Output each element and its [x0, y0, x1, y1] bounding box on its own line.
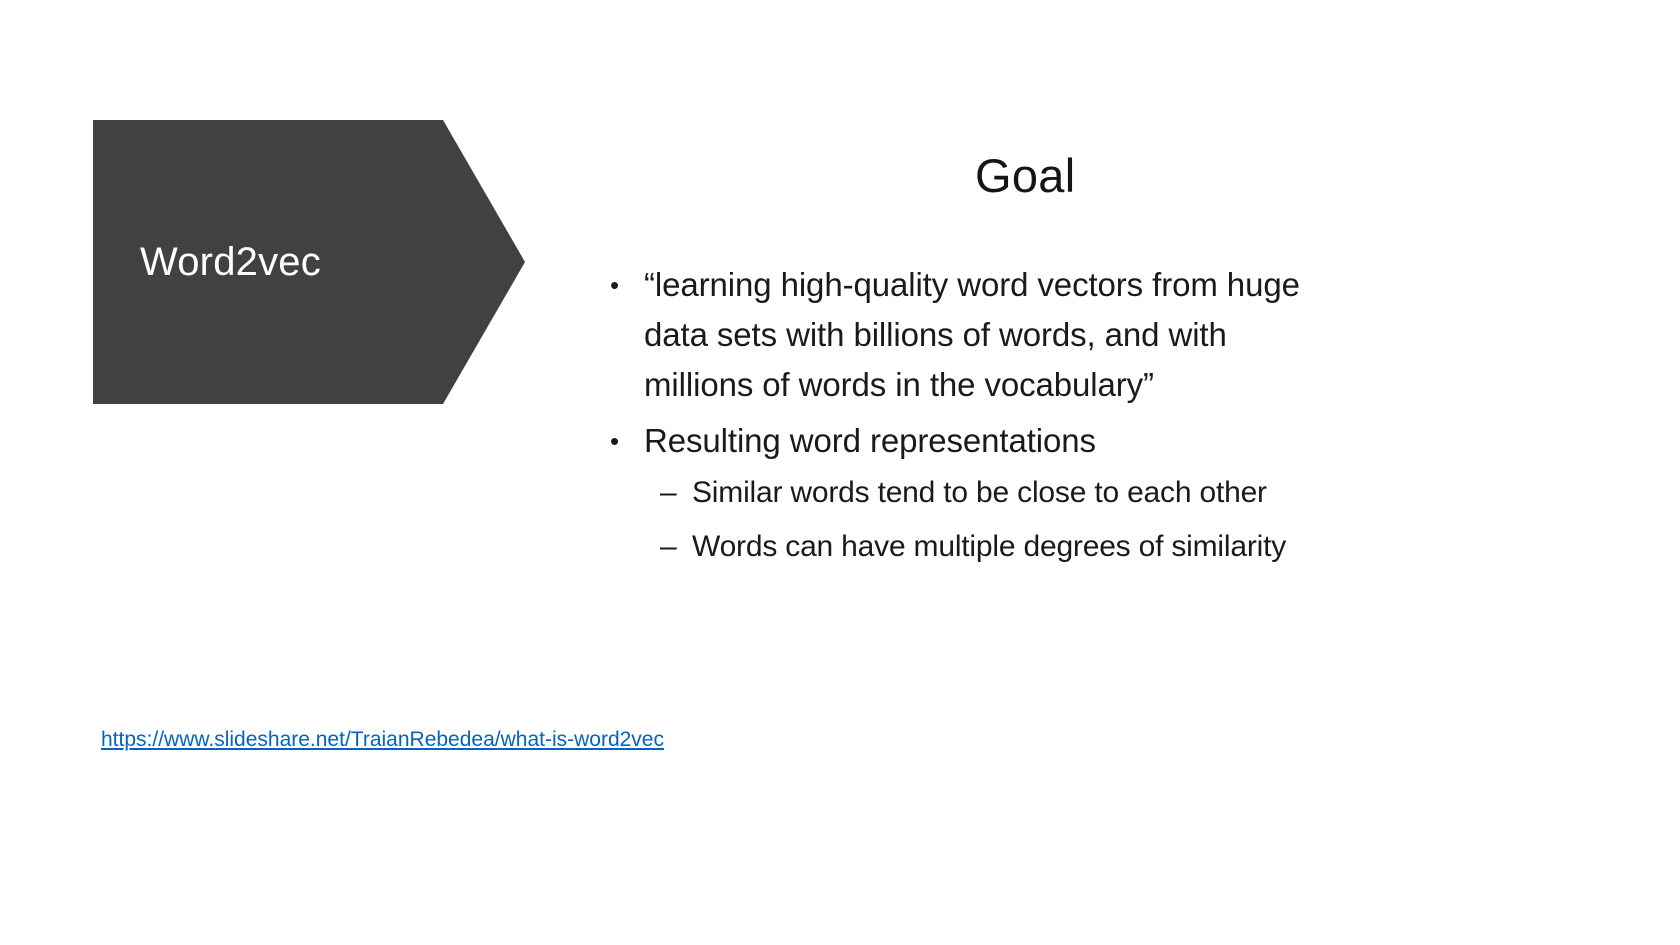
sub-bullet-text: Words can have multiple degrees of simil… [692, 530, 1286, 563]
bullet-line: millions of words in the vocabulary” [644, 360, 1470, 410]
bullet-list: • “learning high-quality word vectors fr… [590, 260, 1470, 580]
bullet-dot-icon: • [610, 260, 619, 310]
sub-bullet-list: – Similar words tend to be close to each… [644, 466, 1470, 574]
bullet-line: Resulting word representations [644, 416, 1470, 466]
dash-bullet-icon: – [660, 520, 677, 574]
dash-bullet-icon: – [660, 466, 677, 520]
slide-title: Word2vec [140, 238, 470, 286]
source-hyperlink[interactable]: https://www.slideshare.net/TraianRebedea… [101, 728, 664, 752]
slide-canvas: Word2vec Goal • “learning high-quality w… [0, 0, 1680, 945]
content-region: Goal • “learning high-quality word vecto… [590, 140, 1470, 600]
list-item: • “learning high-quality word vectors fr… [590, 260, 1470, 410]
sub-list-item: – Similar words tend to be close to each… [654, 466, 1470, 520]
bullet-dot-icon: • [610, 416, 619, 466]
list-item: • Resulting word representations – Simil… [590, 416, 1470, 574]
sub-bullet-text: Similar words tend to be close to each o… [692, 476, 1267, 509]
sub-list-item: – Words can have multiple degrees of sim… [654, 520, 1470, 574]
bullet-line: “learning high-quality word vectors from… [644, 260, 1470, 310]
bullet-line: data sets with billions of words, and wi… [644, 310, 1470, 360]
content-heading: Goal [975, 148, 1075, 203]
